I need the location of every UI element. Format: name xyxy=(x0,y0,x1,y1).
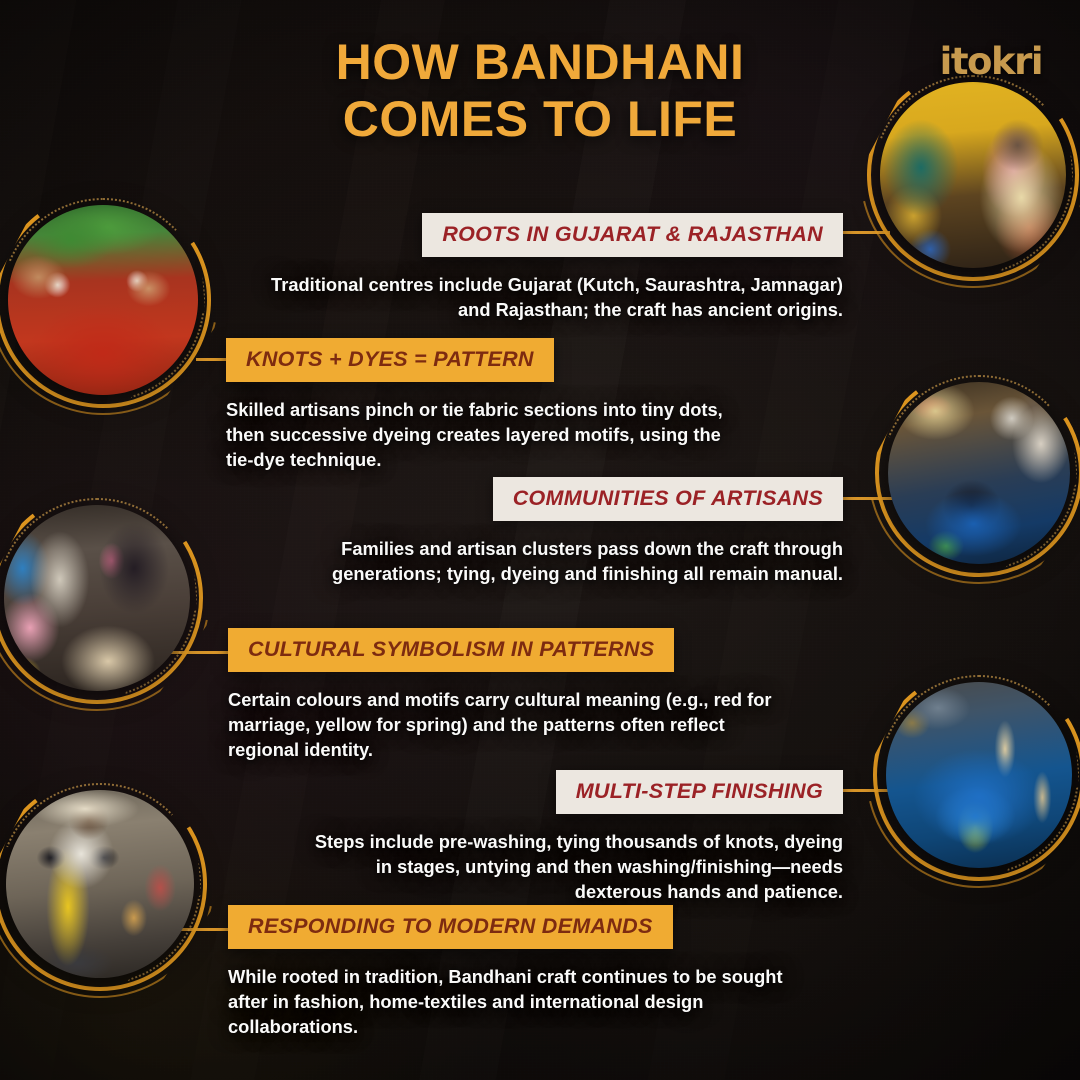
itokri-logo-text: itokri xyxy=(940,40,1042,83)
section-header-label: ROOTS IN GUJARAT & RAJASTHAN xyxy=(422,213,843,257)
infographic-poster: HOW BANDHANI COMES TO LIFE itokri xyxy=(0,0,1080,1080)
photo-image xyxy=(8,205,198,395)
connector-line-2 xyxy=(196,358,226,361)
section-header-label: MULTI-STEP FINISHING xyxy=(556,770,843,814)
itokri-logo[interactable]: itokri xyxy=(940,40,1042,83)
section-roots-in-gujarat-rajasthan: ROOTS IN GUJARAT & RAJASTHAN Traditional… xyxy=(265,213,843,322)
photo-disc xyxy=(888,382,1070,564)
section-body-text: Skilled artisans pinch or tie fabric sec… xyxy=(226,397,746,473)
title-line-1: HOW BANDHANI xyxy=(336,34,745,90)
section-body-text: Traditional centres include Gujarat (Kut… xyxy=(265,272,843,322)
section-header-label: KNOTS + DYES = PATTERN xyxy=(226,338,554,382)
dyer-blue-tub-photo xyxy=(888,382,1070,564)
photo-disc xyxy=(8,205,198,395)
section-body-text: Certain colours and motifs carry cultura… xyxy=(228,687,773,763)
photo-image xyxy=(6,790,194,978)
section-multi-step-finishing: MULTI-STEP FINISHING Steps include pre-w… xyxy=(310,770,843,905)
section-communities-of-artisans: COMMUNITIES OF ARTISANS Families and art… xyxy=(245,477,843,586)
section-body-text: Steps include pre-washing, tying thousan… xyxy=(310,829,843,905)
section-cultural-symbolism-in-patterns: CULTURAL SYMBOLISM IN PATTERNS Certain c… xyxy=(228,628,773,763)
photo-image xyxy=(886,682,1072,868)
section-header-label: RESPONDING TO MODERN DEMANDS xyxy=(228,905,673,949)
page-title: HOW BANDHANI COMES TO LIFE xyxy=(0,34,1080,148)
photo-disc xyxy=(6,790,194,978)
elder-women-tying-photo xyxy=(4,505,190,691)
section-knots-dyes-pattern: KNOTS + DYES = PATTERN Skilled artisans … xyxy=(226,338,746,473)
photo-disc xyxy=(886,682,1072,868)
section-header-label: CULTURAL SYMBOLISM IN PATTERNS xyxy=(228,628,674,672)
section-header-label: COMMUNITIES OF ARTISANS xyxy=(493,477,843,521)
dyer-lifting-yellow-cloth-photo xyxy=(6,790,194,978)
title-line-2: COMES TO LIFE xyxy=(0,91,1080,148)
photo-image xyxy=(888,382,1070,564)
section-body-text: Families and artisan clusters pass down … xyxy=(245,536,843,586)
photo-image xyxy=(4,505,190,691)
section-body-text: While rooted in tradition, Bandhani craf… xyxy=(228,964,784,1040)
hands-tying-red-fabric-photo xyxy=(8,205,198,395)
blue-dye-vat-photo xyxy=(886,682,1072,868)
photo-disc xyxy=(4,505,190,691)
section-responding-to-modern-demands: RESPONDING TO MODERN DEMANDS While roote… xyxy=(228,905,784,1040)
